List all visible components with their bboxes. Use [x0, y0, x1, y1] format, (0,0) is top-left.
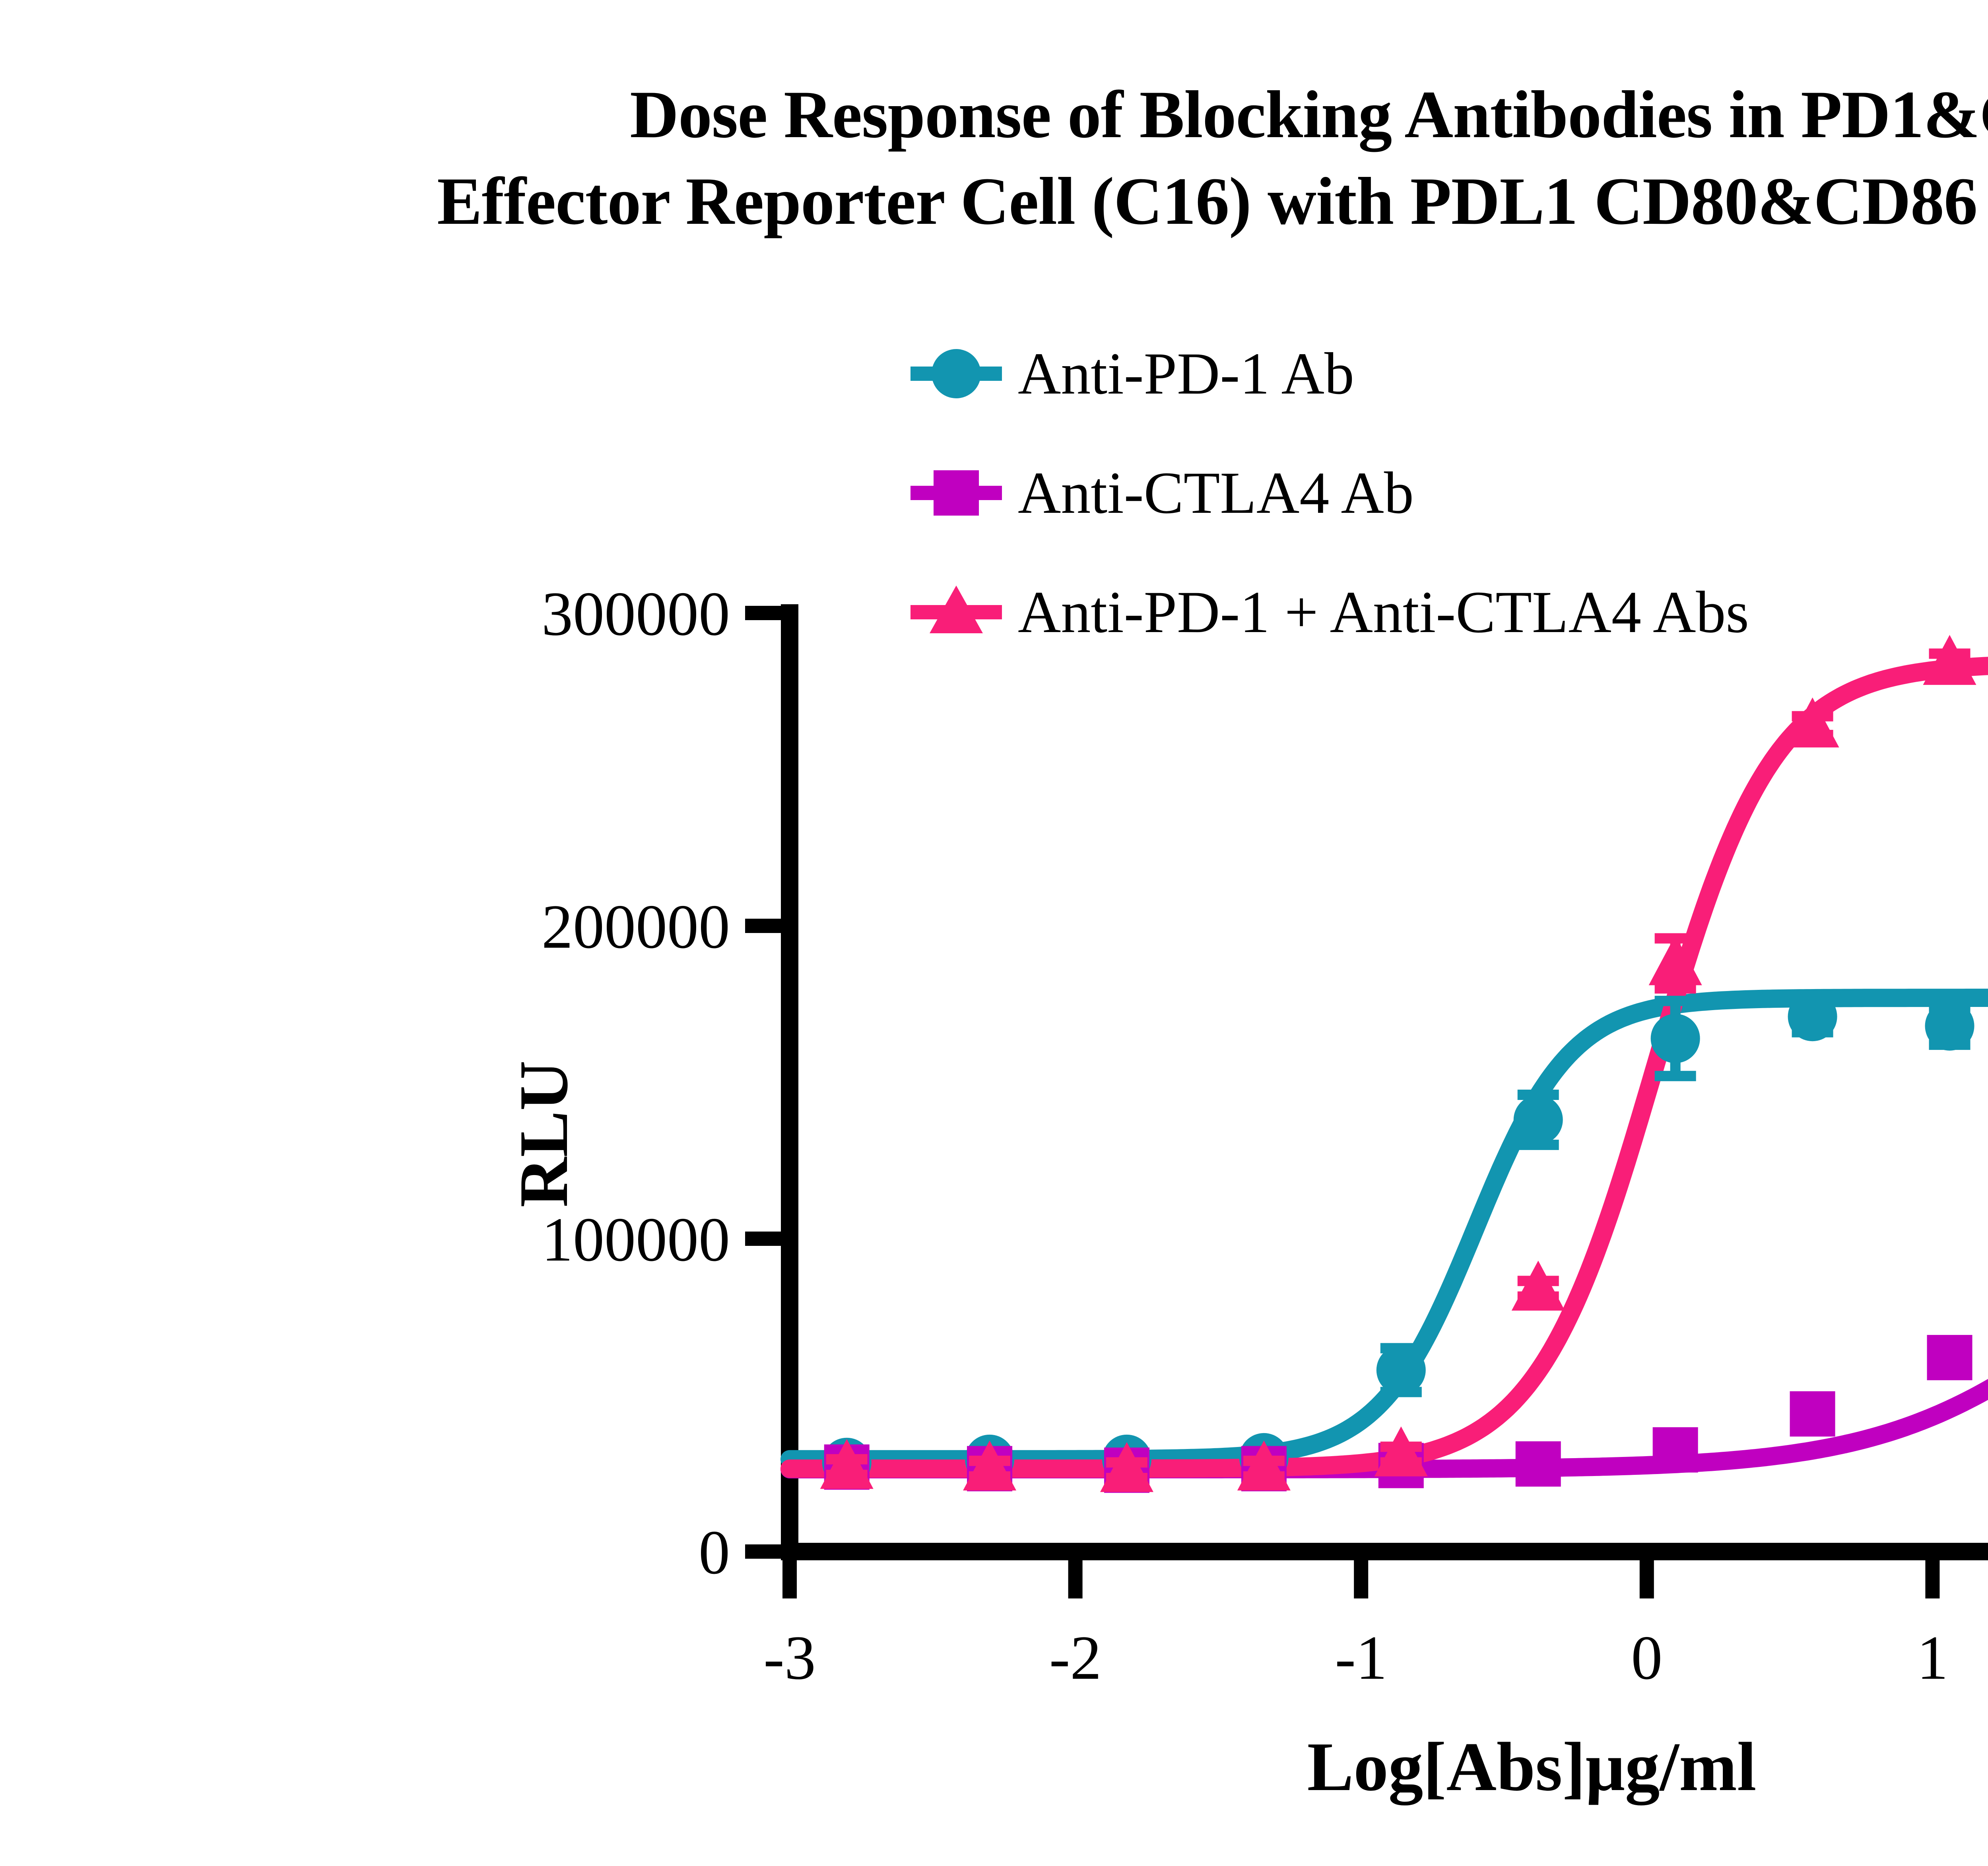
y-axis-line	[781, 604, 798, 1560]
y-axis-title: RLU	[505, 1061, 582, 1207]
x-tick	[782, 1560, 797, 1598]
x-tick-label: -2	[1049, 1623, 1102, 1693]
x-tick	[1068, 1560, 1083, 1598]
x-axis-title: Log[Abs]μg/ml	[1307, 1728, 1757, 1806]
y-tick-label: 0	[699, 1518, 730, 1587]
y-tick	[745, 1544, 782, 1559]
y-tick-label: 300000	[542, 579, 730, 649]
x-tick	[1640, 1560, 1654, 1598]
y-tick	[745, 1232, 782, 1246]
error-bar-cap-bottom	[1655, 1071, 1696, 1081]
x-tick-label: -1	[1335, 1623, 1387, 1693]
data-point-square	[1790, 1391, 1835, 1437]
x-tick-label: 1	[1917, 1623, 1948, 1693]
chart-svg: 0100000200000300000-3-2-1012Log[Abs]μg/m…	[0, 0, 1988, 1866]
data-point-circle	[1925, 1001, 1974, 1051]
y-tick-label: 100000	[542, 1205, 730, 1274]
y-tick	[745, 606, 782, 620]
data-point-circle	[1376, 1346, 1426, 1395]
y-tick-label: 200000	[542, 892, 730, 962]
x-tick	[1354, 1560, 1368, 1598]
data-point-square	[1516, 1441, 1561, 1487]
x-tick-label: 0	[1631, 1623, 1662, 1693]
chart-page: Dose Response of Blocking Antibodies in …	[0, 0, 1988, 1866]
points-layer	[820, 635, 1988, 1493]
x-tick-label: -3	[763, 1623, 816, 1693]
x-axis-line	[781, 1543, 1988, 1560]
data-point-square	[1653, 1427, 1698, 1472]
data-point-circle	[1651, 1014, 1700, 1063]
chart-plot-area: 0100000200000300000-3-2-1012Log[Abs]μg/m…	[0, 0, 1988, 1866]
data-point-circle	[1788, 992, 1837, 1041]
data-point-circle	[1514, 1095, 1563, 1144]
x-tick	[1925, 1560, 1939, 1598]
data-point-square	[1927, 1335, 1972, 1380]
y-tick	[745, 919, 782, 933]
error-bar-cap-top	[1655, 996, 1696, 1006]
